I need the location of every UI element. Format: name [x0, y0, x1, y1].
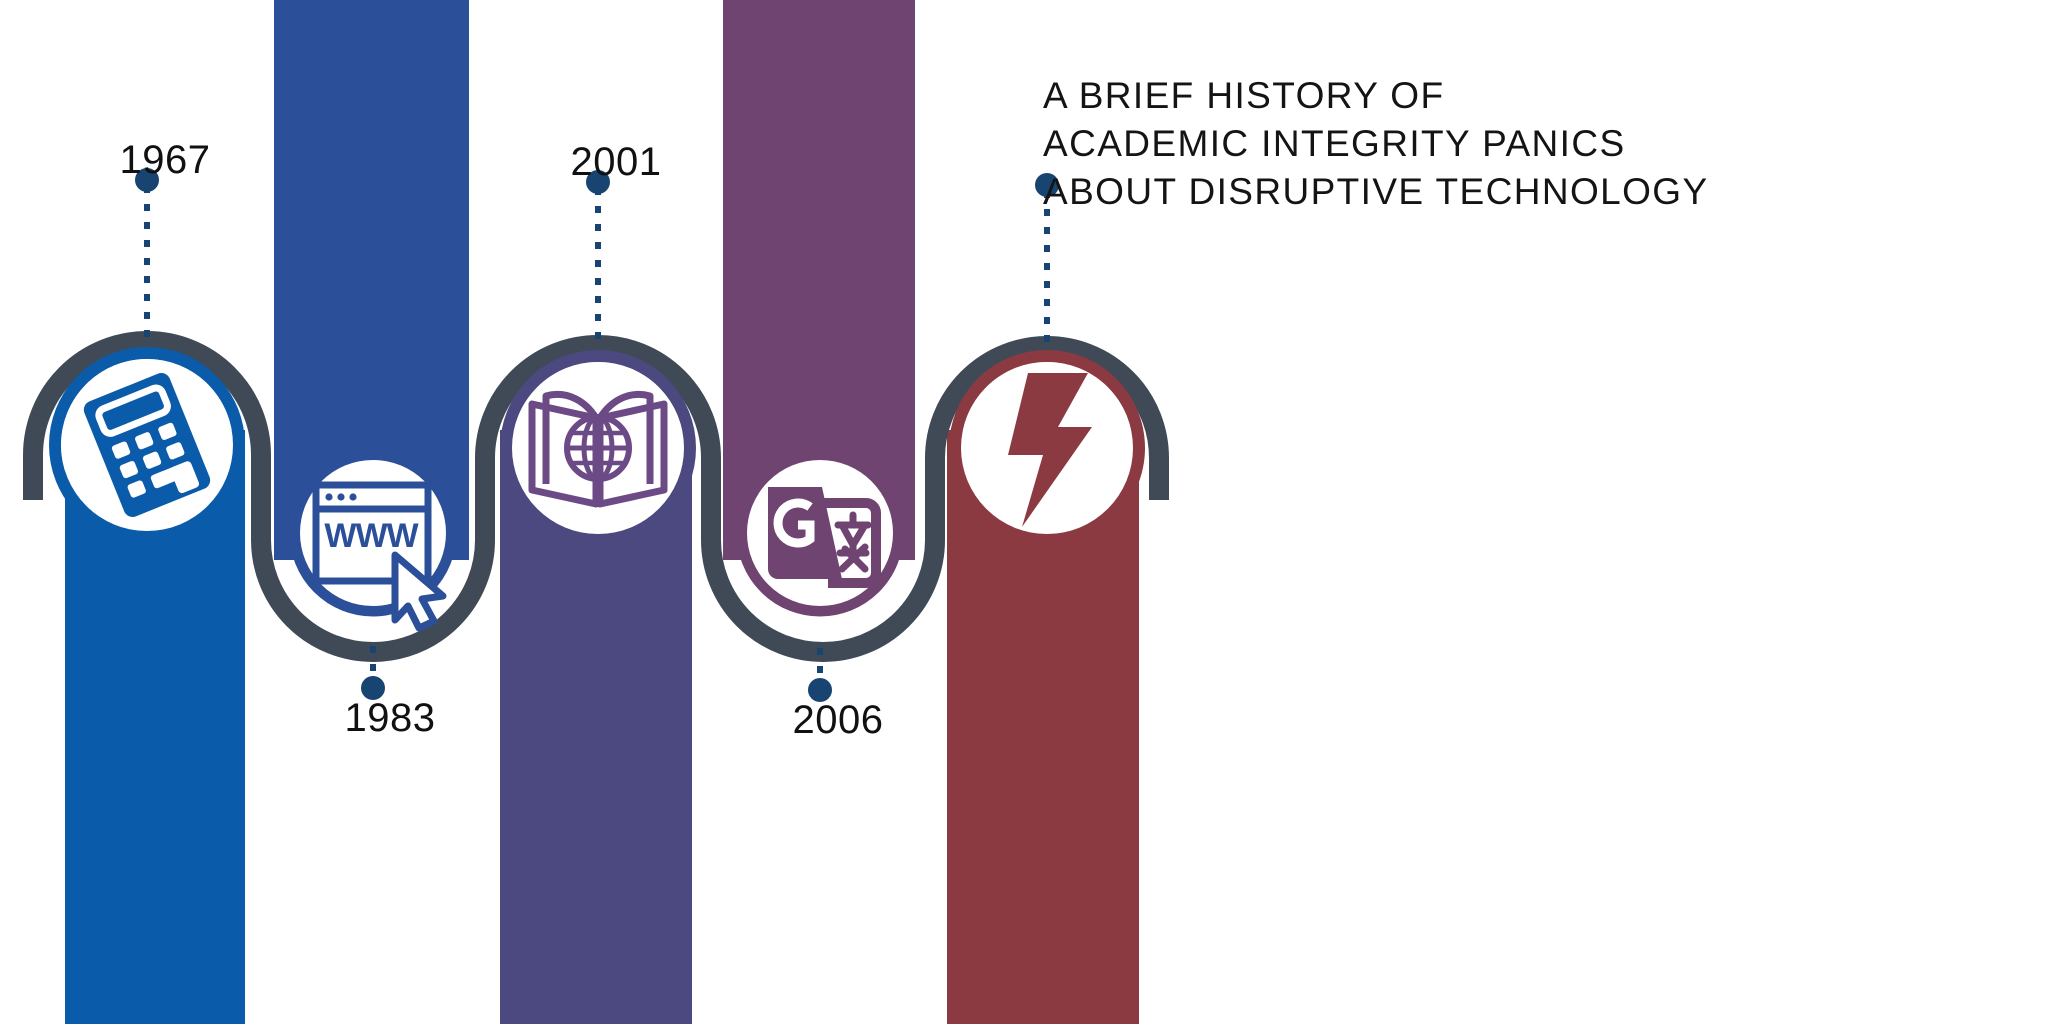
- year-label-2006: 2006: [793, 698, 884, 743]
- year-label-1983: 1983: [345, 696, 436, 741]
- year-label-1967: 1967: [120, 138, 211, 183]
- title-line-3: ABOUT DISRUPTIVE TECHNOLOGY: [1043, 168, 2003, 216]
- year-label-2001: 2001: [571, 140, 662, 185]
- infographic-canvas: WWW: [0, 0, 2048, 1024]
- page-title: A BRIEF HISTORY OF ACADEMIC INTEGRITY PA…: [1043, 72, 2003, 216]
- title-line-1: A BRIEF HISTORY OF: [1043, 72, 2003, 120]
- title-line-2: ACADEMIC INTEGRITY PANICS: [1043, 120, 2003, 168]
